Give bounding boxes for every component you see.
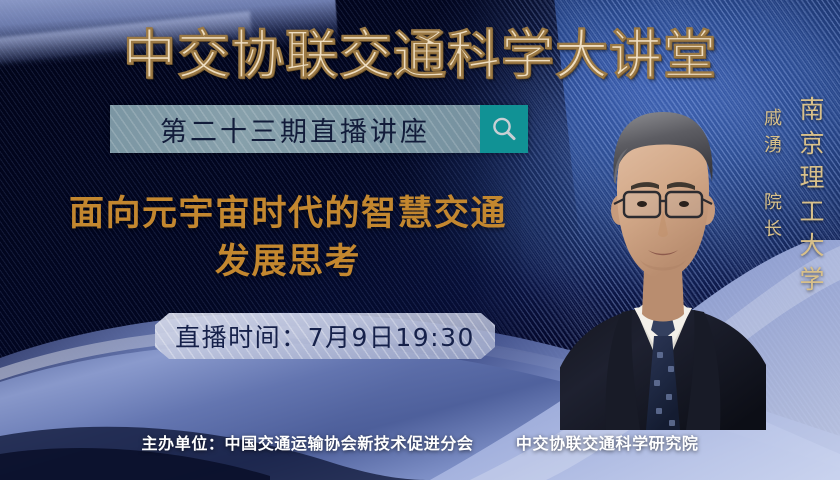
footer-organizers: 主办单位：中国交通运输协会新技术促进分会 中交协联交通科学研究院	[0, 430, 840, 454]
footer-organizer-secondary: 中交协联交通科学研究院	[516, 434, 699, 453]
broadcast-time-badge: 直播时间：7月9日19:30	[155, 313, 495, 359]
series-bar-body: 第二十三期直播讲座	[110, 105, 480, 153]
search-icon[interactable]	[480, 105, 528, 153]
footer-organizer-primary: 主办单位：中国交通运输协会新技术促进分会	[142, 434, 474, 453]
speaker-name-title: 戚湧 院长	[758, 108, 784, 246]
series-bar[interactable]: 第二十三期直播讲座	[110, 105, 528, 153]
lecture-topic: 面向元宇宙时代的智慧交通 发展思考	[38, 190, 538, 286]
speaker-organization: 南京理工大学	[792, 96, 828, 300]
page-title: 中交协联交通科学大讲堂	[0, 13, 840, 89]
poster-canvas: 中交协联交通科学大讲堂 第二十三期直播讲座 面向元宇宙时代的智慧交通 发展思考 …	[0, 0, 840, 480]
lecture-topic-line-2: 发展思考	[38, 238, 538, 286]
lecture-topic-line-1: 面向元宇宙时代的智慧交通	[38, 190, 538, 238]
series-bar-label: 第二十三期直播讲座	[160, 110, 430, 149]
speaker-portrait	[560, 74, 766, 430]
broadcast-time-label: 直播时间：7月9日19:30	[175, 318, 475, 354]
